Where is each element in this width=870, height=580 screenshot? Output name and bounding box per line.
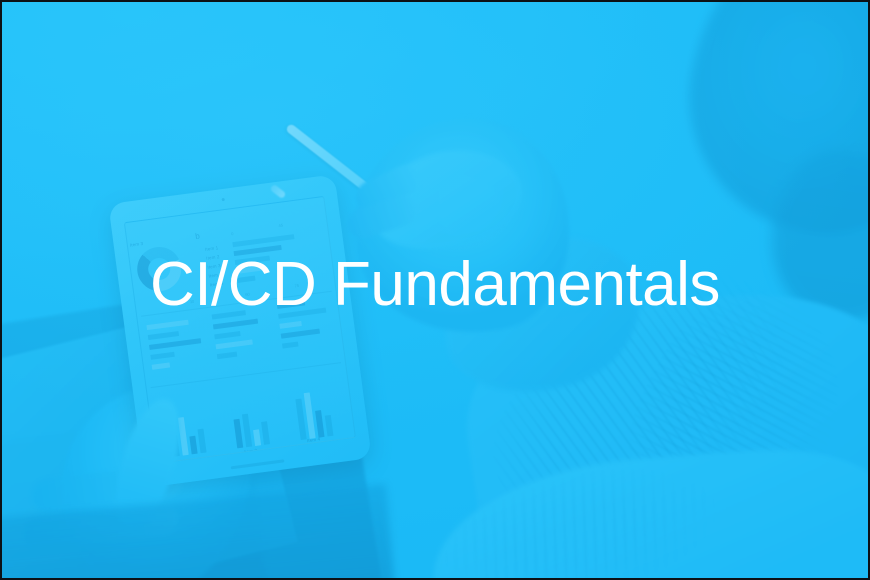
panel2-bar-5 — [217, 352, 237, 359]
panel2-bar-4 — [216, 339, 253, 348]
panel2-bar-2 — [213, 319, 258, 329]
panel3-bar-3 — [279, 321, 301, 328]
axis-tick-0: 0 — [231, 231, 234, 236]
panel1-bar-1 — [146, 320, 188, 330]
hero-banner: Item 3 b 0 45 Item 1 Item 2 Item 3 Item … — [0, 0, 870, 580]
panel2-bar-3 — [214, 331, 240, 339]
vbar-2c — [189, 436, 197, 455]
vbar-3b — [242, 414, 252, 448]
donut-label: Item 3 — [130, 241, 144, 248]
panel1-bar-2 — [148, 331, 179, 340]
vbar-2b — [178, 417, 189, 455]
vbar-3c — [253, 429, 261, 446]
panel1-bar-5 — [152, 362, 170, 369]
vbar-group-item-4 — [294, 382, 346, 440]
vbar-xlabel-item-4: Item 4 — [307, 436, 321, 443]
vbar-4c — [315, 410, 324, 438]
hbar-1 — [232, 234, 294, 247]
panel3-bar-5 — [282, 342, 298, 349]
axis-tick-45: 45 — [278, 223, 283, 229]
panel1-bar-3 — [149, 338, 201, 349]
vbar-4d — [325, 415, 334, 437]
panel3-bar-4 — [281, 329, 320, 339]
page-title: CI/CD Fundamentals — [2, 250, 868, 320]
vbar-3a — [234, 419, 244, 449]
dashboard-heading: b — [195, 231, 201, 241]
panel1-bar-4 — [150, 352, 174, 360]
divider-2 — [151, 362, 341, 388]
vbar-3d — [261, 421, 270, 445]
vbar-2d — [197, 429, 206, 454]
vbar-group-item-3 — [231, 391, 283, 449]
tablet-camera-icon — [221, 198, 224, 201]
